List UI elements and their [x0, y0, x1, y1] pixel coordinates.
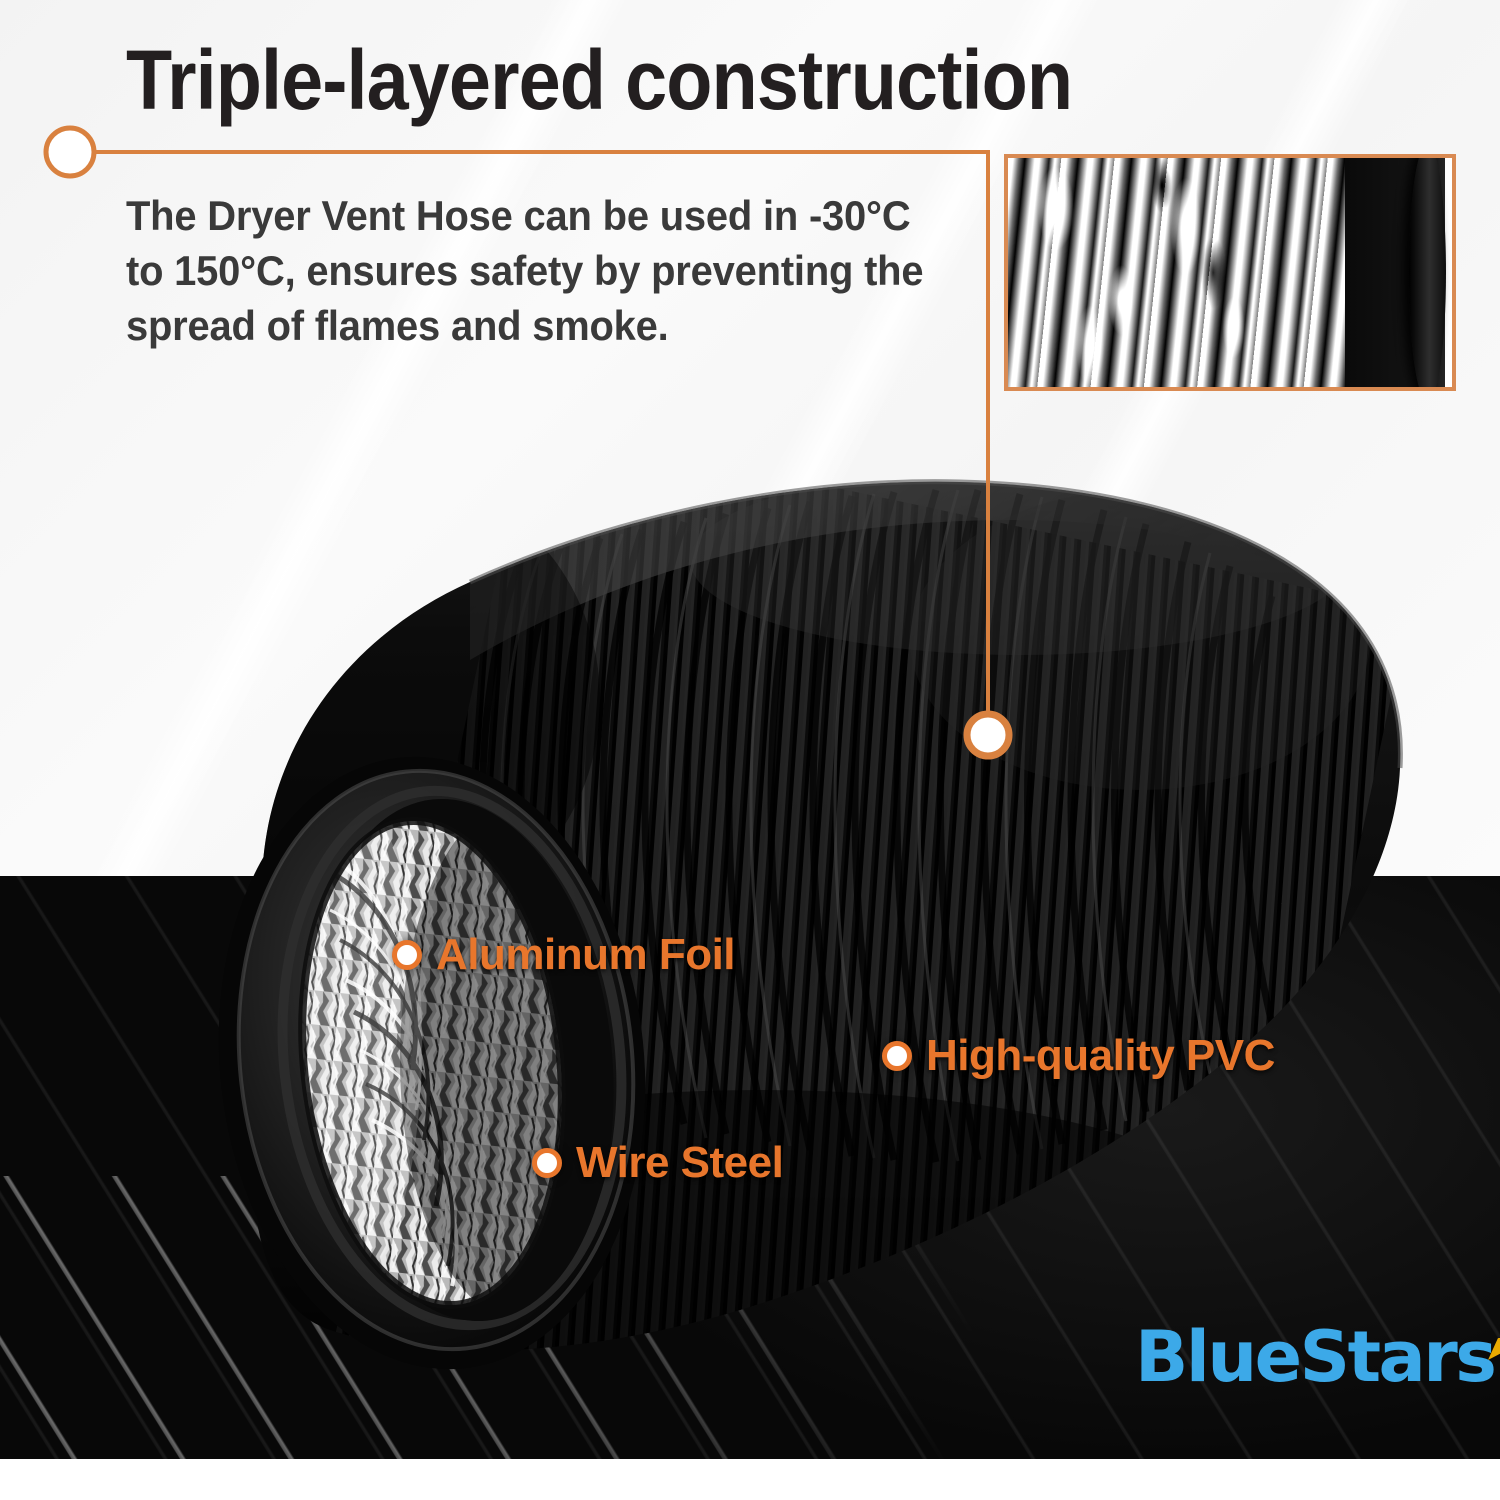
callout-label: High-quality PVC — [926, 1031, 1275, 1081]
callout-dot-icon — [532, 1148, 562, 1178]
page-title: Triple-layered construction — [126, 32, 1072, 128]
bottom-white-border — [0, 1459, 1500, 1500]
callout-high-quality-pvc: High-quality PVC — [882, 1031, 1275, 1081]
callout-label: Aluminum Foil — [436, 930, 735, 980]
brand-name: BlueStars — [1135, 1322, 1494, 1392]
description-text: The Dryer Vent Hose can be used in -30°C… — [126, 188, 924, 353]
callout-label: Wire Steel — [576, 1138, 783, 1188]
inset-photo-background — [1445, 158, 1452, 387]
star-icon — [1486, 1318, 1500, 1376]
foil-closeup-inset — [1004, 154, 1456, 391]
top-light-panel — [0, 0, 1500, 876]
inset-pvc-edge — [1345, 158, 1452, 387]
callout-dot-icon — [392, 940, 422, 970]
inset-foil-highlights — [1008, 158, 1350, 387]
dark-panel-bright-stripes — [0, 1176, 1040, 1459]
callout-aluminum-foil: Aluminum Foil — [392, 930, 735, 980]
infographic-canvas: Triple-layered construction The Dryer Ve… — [0, 0, 1500, 1500]
callout-wire-steel: Wire Steel — [532, 1138, 783, 1188]
inset-foil-texture — [1008, 158, 1350, 387]
brand-logo: BlueStars — [1135, 1322, 1500, 1392]
callout-dot-icon — [882, 1041, 912, 1071]
